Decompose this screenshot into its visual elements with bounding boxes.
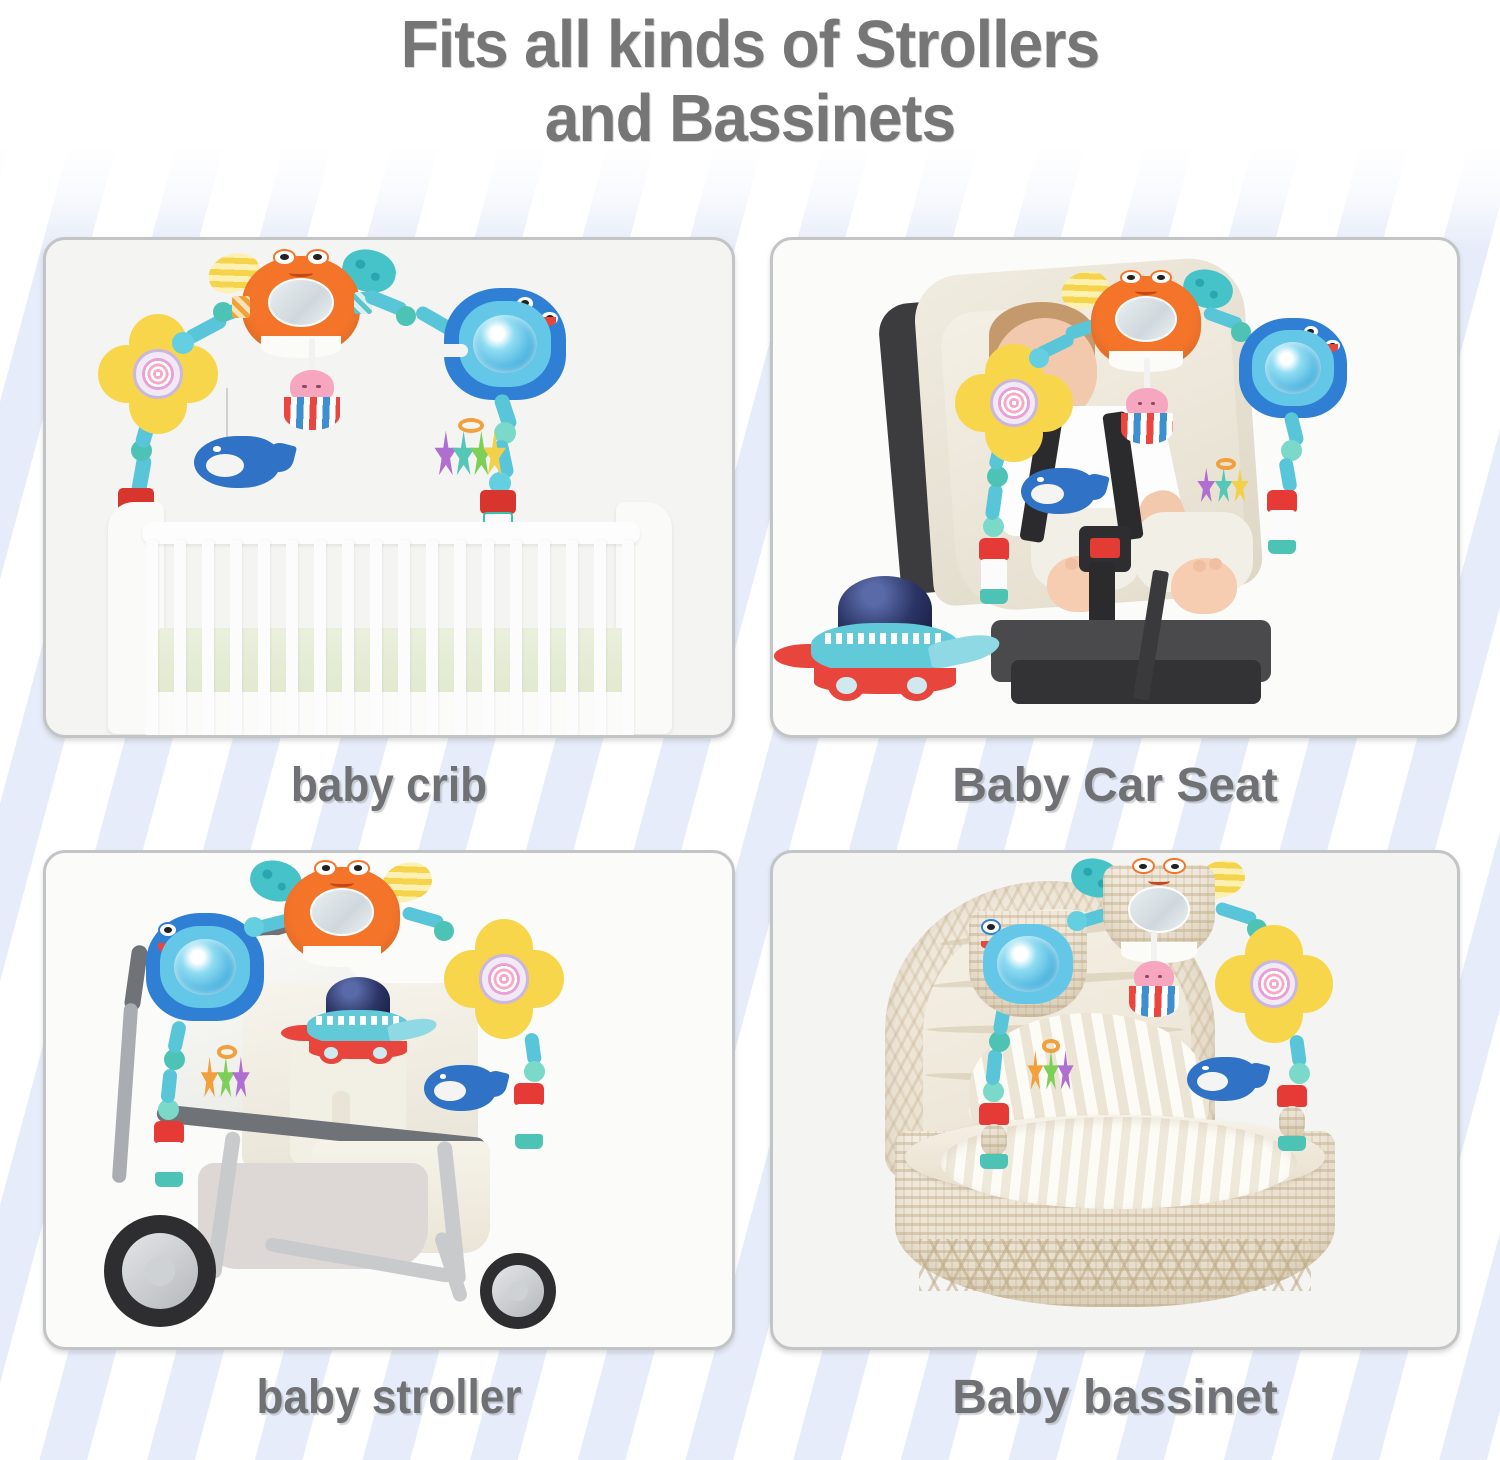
crib-lower-panel <box>150 692 632 738</box>
flower-toy-bassinet <box>1219 929 1329 1039</box>
stroller-wheel-front <box>480 1253 556 1329</box>
octopus-toy-crib <box>284 370 340 430</box>
bottle-bead-left-bassinet <box>979 1103 1009 1169</box>
caption-baby-crib: baby crib <box>71 758 708 813</box>
bottle-bead-right-stroller <box>514 1083 544 1149</box>
bottle-bead-right-car <box>1267 490 1297 554</box>
stroller-rear-post <box>112 1003 139 1184</box>
shark-rattle-crib <box>444 288 566 400</box>
stroller-wheel-rear <box>104 1215 216 1327</box>
crib-scene <box>46 240 732 735</box>
bottle-bead-left-stroller <box>154 1121 184 1187</box>
whale-teether-car <box>1021 468 1095 514</box>
panel-baby-crib[interactable] <box>43 237 735 738</box>
bottle-bead-left-car <box>979 538 1009 604</box>
crab-mirror-toy-bassinet <box>1103 865 1215 959</box>
airplane-projector-car <box>801 576 969 694</box>
panel-baby-car-seat[interactable] <box>770 237 1460 738</box>
star-keys-car <box>1197 458 1255 512</box>
octopus-toy-car <box>1121 388 1173 444</box>
page-title: Fits all kinds of Strollers and Bassinet… <box>53 8 1448 155</box>
whale-teether-stroller <box>424 1065 496 1111</box>
crib-top-rail <box>142 522 640 544</box>
octopus-toy-bassinet <box>1129 961 1179 1017</box>
bottle-bead-right-bassinet <box>1277 1085 1307 1151</box>
car-seat-scene <box>773 240 1457 735</box>
bassinet-lace-trim <box>919 1239 1311 1291</box>
title-line-2: and Bassinets <box>53 82 1448 156</box>
crab-mirror-toy-crib <box>242 256 360 354</box>
star-keys-crib <box>434 418 508 488</box>
shark-rattle-car <box>1239 318 1347 418</box>
stroller-handle-joint <box>123 944 148 1012</box>
panel-baby-stroller[interactable] <box>43 850 735 1350</box>
flower-toy-car <box>959 348 1069 458</box>
crotch-strap <box>1089 562 1115 628</box>
caption-baby-stroller: baby stroller <box>71 1370 708 1425</box>
flower-toy-stroller <box>448 923 560 1035</box>
airplane-projector-stroller <box>300 977 416 1059</box>
whale-teether-bassinet <box>1187 1057 1257 1101</box>
crab-mirror-toy-car <box>1091 276 1201 368</box>
star-keys-stroller <box>198 1045 256 1109</box>
stroller-scene <box>46 853 732 1347</box>
whale-teether-crib <box>194 436 280 488</box>
bassinet-scene <box>773 853 1457 1347</box>
caption-baby-car-seat: Baby Car Seat <box>770 758 1460 813</box>
crab-mirror-toy-stroller <box>284 867 400 963</box>
star-keys-bassinet <box>1025 1039 1077 1101</box>
panel-baby-bassinet[interactable] <box>770 850 1460 1350</box>
title-line-1: Fits all kinds of Strollers <box>401 7 1100 82</box>
caption-baby-bassinet: Baby bassinet <box>770 1370 1460 1425</box>
